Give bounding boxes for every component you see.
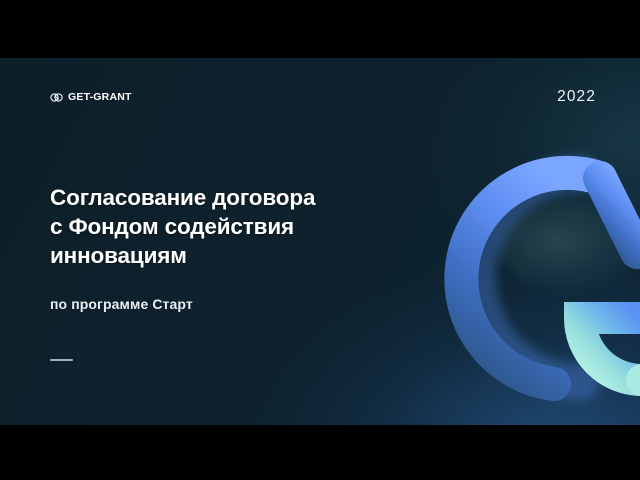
presentation-slide: GET-GRANT 2022 Согласование договора с Ф…: [0, 0, 640, 480]
slide-subtitle: по программе Старт: [50, 294, 420, 314]
letterbox-bar-top: [0, 0, 640, 58]
brand-wordmark: GET-GRANT: [68, 91, 132, 104]
background-glow-blob: [498, 198, 640, 294]
slide-header: GET-GRANT 2022: [0, 58, 640, 138]
get-grant-interlocking-circles-icon: [50, 91, 63, 104]
slide-year: 2022: [557, 88, 596, 106]
slide-title: Согласование договора с Фондом содействи…: [50, 183, 420, 270]
brand-logo: GET-GRANT: [50, 90, 132, 104]
letterbox-bar-bottom: [0, 425, 640, 480]
slide-stage: GET-GRANT 2022 Согласование договора с Ф…: [0, 58, 640, 425]
title-divider-rule: [50, 359, 73, 361]
slide-copy-block: Согласование договора с Фондом содействи…: [50, 183, 420, 361]
